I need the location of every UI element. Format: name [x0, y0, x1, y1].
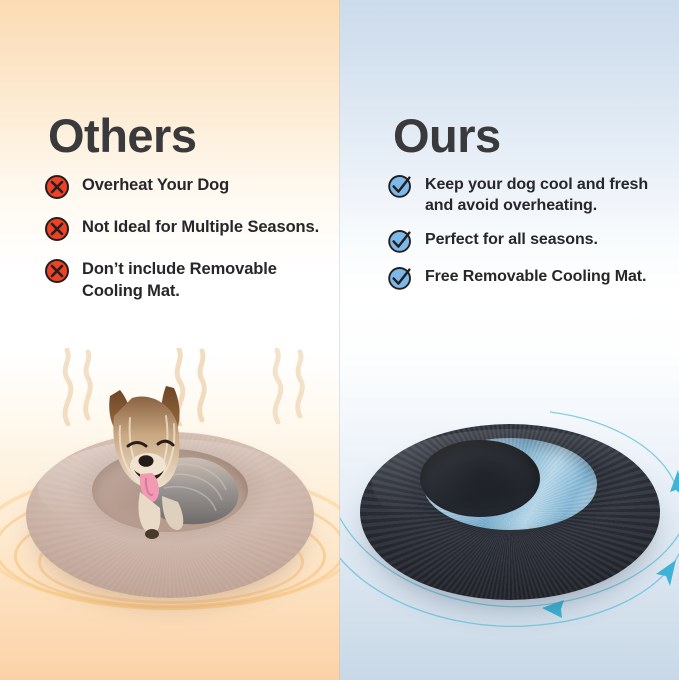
cross-circle-icon: [44, 216, 70, 242]
others-feature-list: Overheat Your Dog Not Ideal for Multiple…: [44, 175, 330, 320]
list-item: Overheat Your Dog: [44, 175, 330, 200]
list-item: Keep your dog cool and fresh and avoid o…: [387, 174, 675, 217]
others-image-stage: [0, 0, 340, 680]
dog-bed-ours: [360, 424, 660, 600]
check-circle-icon: [387, 265, 413, 291]
list-item: Don’t include Removable Cooling Mat.: [44, 259, 330, 303]
list-item-label: Free Removable Cooling Mat.: [425, 266, 646, 287]
ours-panel: Ours Keep your dog cool and fresh and av…: [340, 0, 679, 680]
others-heading: Others: [48, 112, 197, 159]
others-panel: Others Overheat Your Dog: [0, 0, 340, 680]
list-item-label: Don’t include Removable Cooling Mat.: [82, 259, 330, 303]
list-item-label: Keep your dog cool and fresh and avoid o…: [425, 174, 675, 217]
cross-circle-icon: [44, 258, 70, 284]
cross-circle-icon: [44, 174, 70, 200]
list-item: Free Removable Cooling Mat.: [387, 266, 675, 291]
panel-divider: [339, 0, 340, 680]
list-item-label: Not Ideal for Multiple Seasons.: [82, 217, 319, 239]
check-circle-icon: [387, 173, 413, 199]
ours-image-stage: [340, 0, 679, 680]
ours-heading: Ours: [393, 112, 501, 159]
list-item: Perfect for all seasons.: [387, 229, 675, 254]
dog-yorkshire-terrier: [66, 366, 266, 566]
bed-inner-cavity: [420, 440, 540, 517]
comparison-poster: Others Overheat Your Dog: [0, 0, 679, 680]
list-item-label: Perfect for all seasons.: [425, 229, 598, 250]
list-item: Not Ideal for Multiple Seasons.: [44, 217, 330, 242]
check-circle-icon: [387, 228, 413, 254]
list-item-label: Overheat Your Dog: [82, 175, 229, 197]
ours-feature-list: Keep your dog cool and fresh and avoid o…: [387, 174, 675, 303]
